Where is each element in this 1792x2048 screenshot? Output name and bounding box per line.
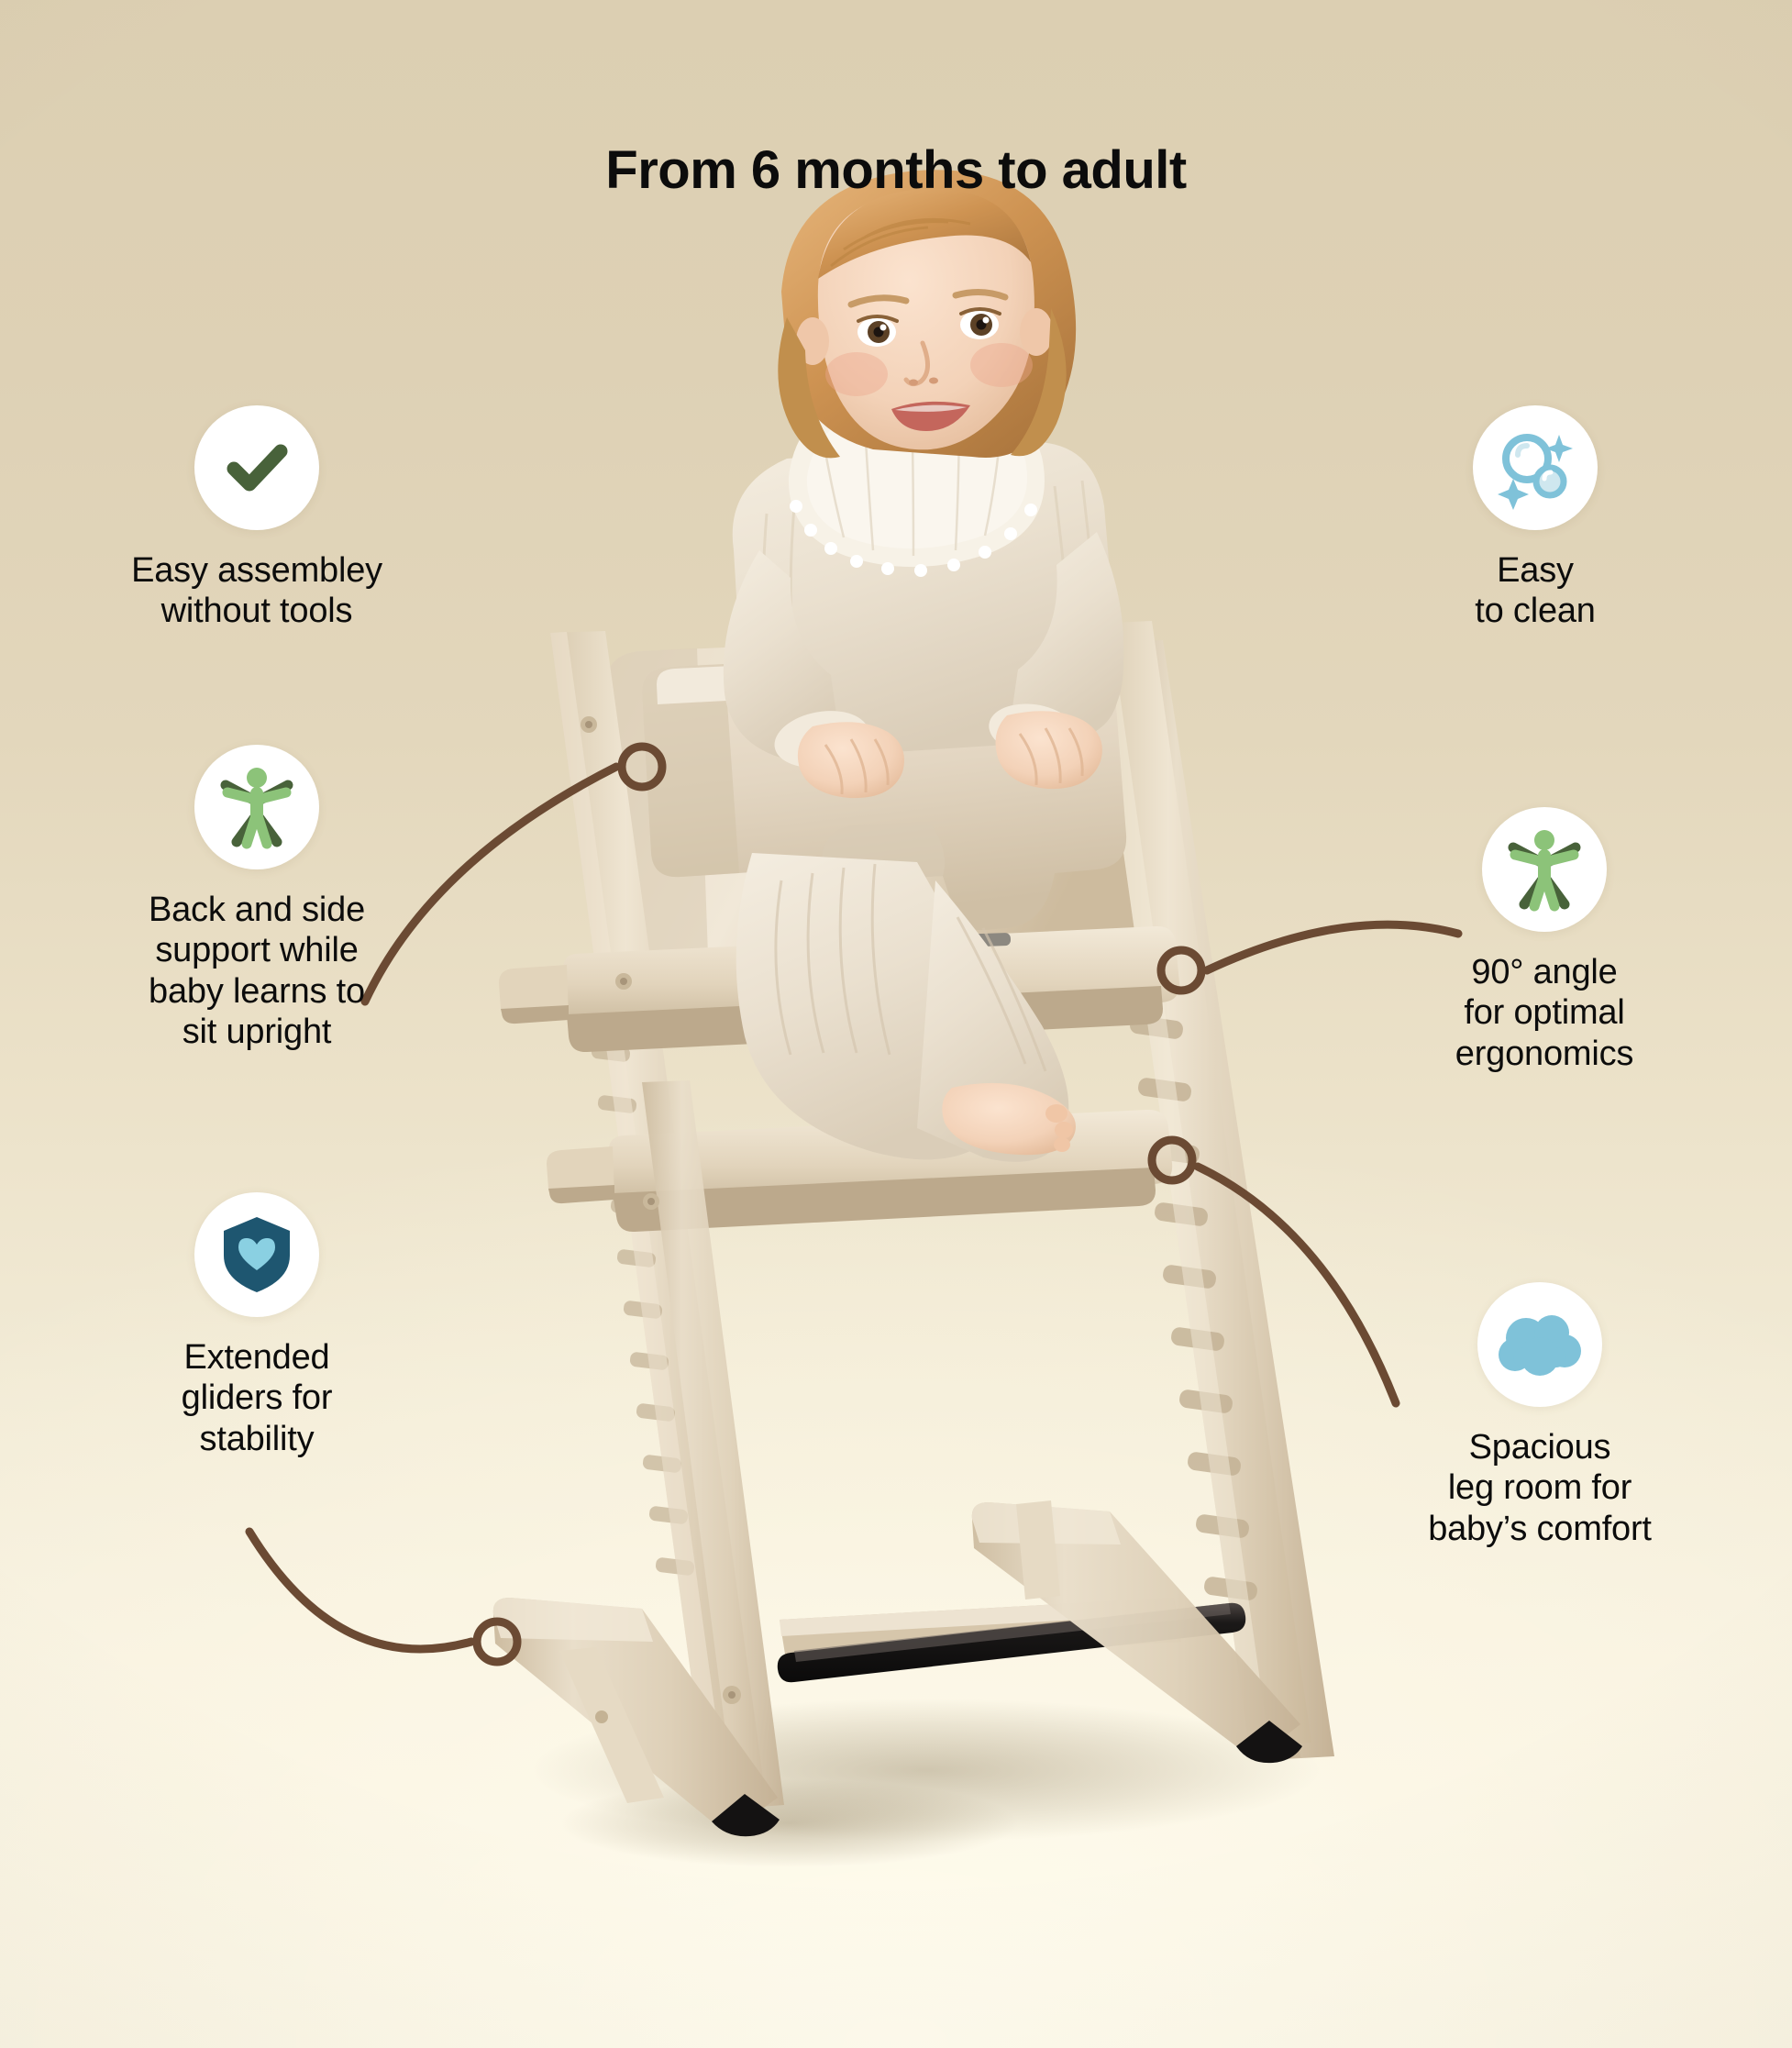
checkmark-icon <box>217 428 296 507</box>
feature-label-ninety-degree-angle: 90° angle for optimal ergonomics <box>1324 952 1764 1074</box>
cloud-icon <box>1497 1312 1583 1377</box>
badge-easy-assembly <box>194 405 319 530</box>
badge-spacious-leg-room <box>1477 1282 1602 1407</box>
feature-label-easy-to-clean: Easy to clean <box>1320 550 1751 632</box>
badge-ninety-degree-angle <box>1482 807 1607 932</box>
feature-easy-to-clean: Easy to clean <box>1320 405 1751 632</box>
feature-label-easy-assembly: Easy assembley without tools <box>37 550 477 632</box>
ergonomic-person-icon <box>215 765 299 849</box>
feature-label-spacious-leg-room: Spacious leg room for baby’s comfort <box>1301 1427 1778 1549</box>
badge-extended-gliders <box>194 1192 319 1317</box>
shield-heart-icon <box>217 1213 296 1296</box>
badge-back-side-support <box>194 745 319 869</box>
feature-easy-assembly: Easy assembley without tools <box>37 405 477 632</box>
feature-spacious-leg-room: Spacious leg room for baby’s comfort <box>1301 1282 1778 1549</box>
feature-label-extended-gliders: Extended gliders for stability <box>55 1337 459 1459</box>
feature-label-back-side-support: Back and side support while baby learns … <box>28 890 486 1053</box>
bubbles-sparkle-icon <box>1493 426 1577 510</box>
ergonomic-person-icon <box>1502 827 1587 912</box>
feature-back-side-support: Back and side support while baby learns … <box>28 745 486 1053</box>
feature-extended-gliders: Extended gliders for stability <box>55 1192 459 1459</box>
page-title: From 6 months to adult <box>0 139 1792 201</box>
feature-ninety-degree-angle: 90° angle for optimal ergonomics <box>1324 807 1764 1074</box>
badge-easy-to-clean <box>1473 405 1598 530</box>
